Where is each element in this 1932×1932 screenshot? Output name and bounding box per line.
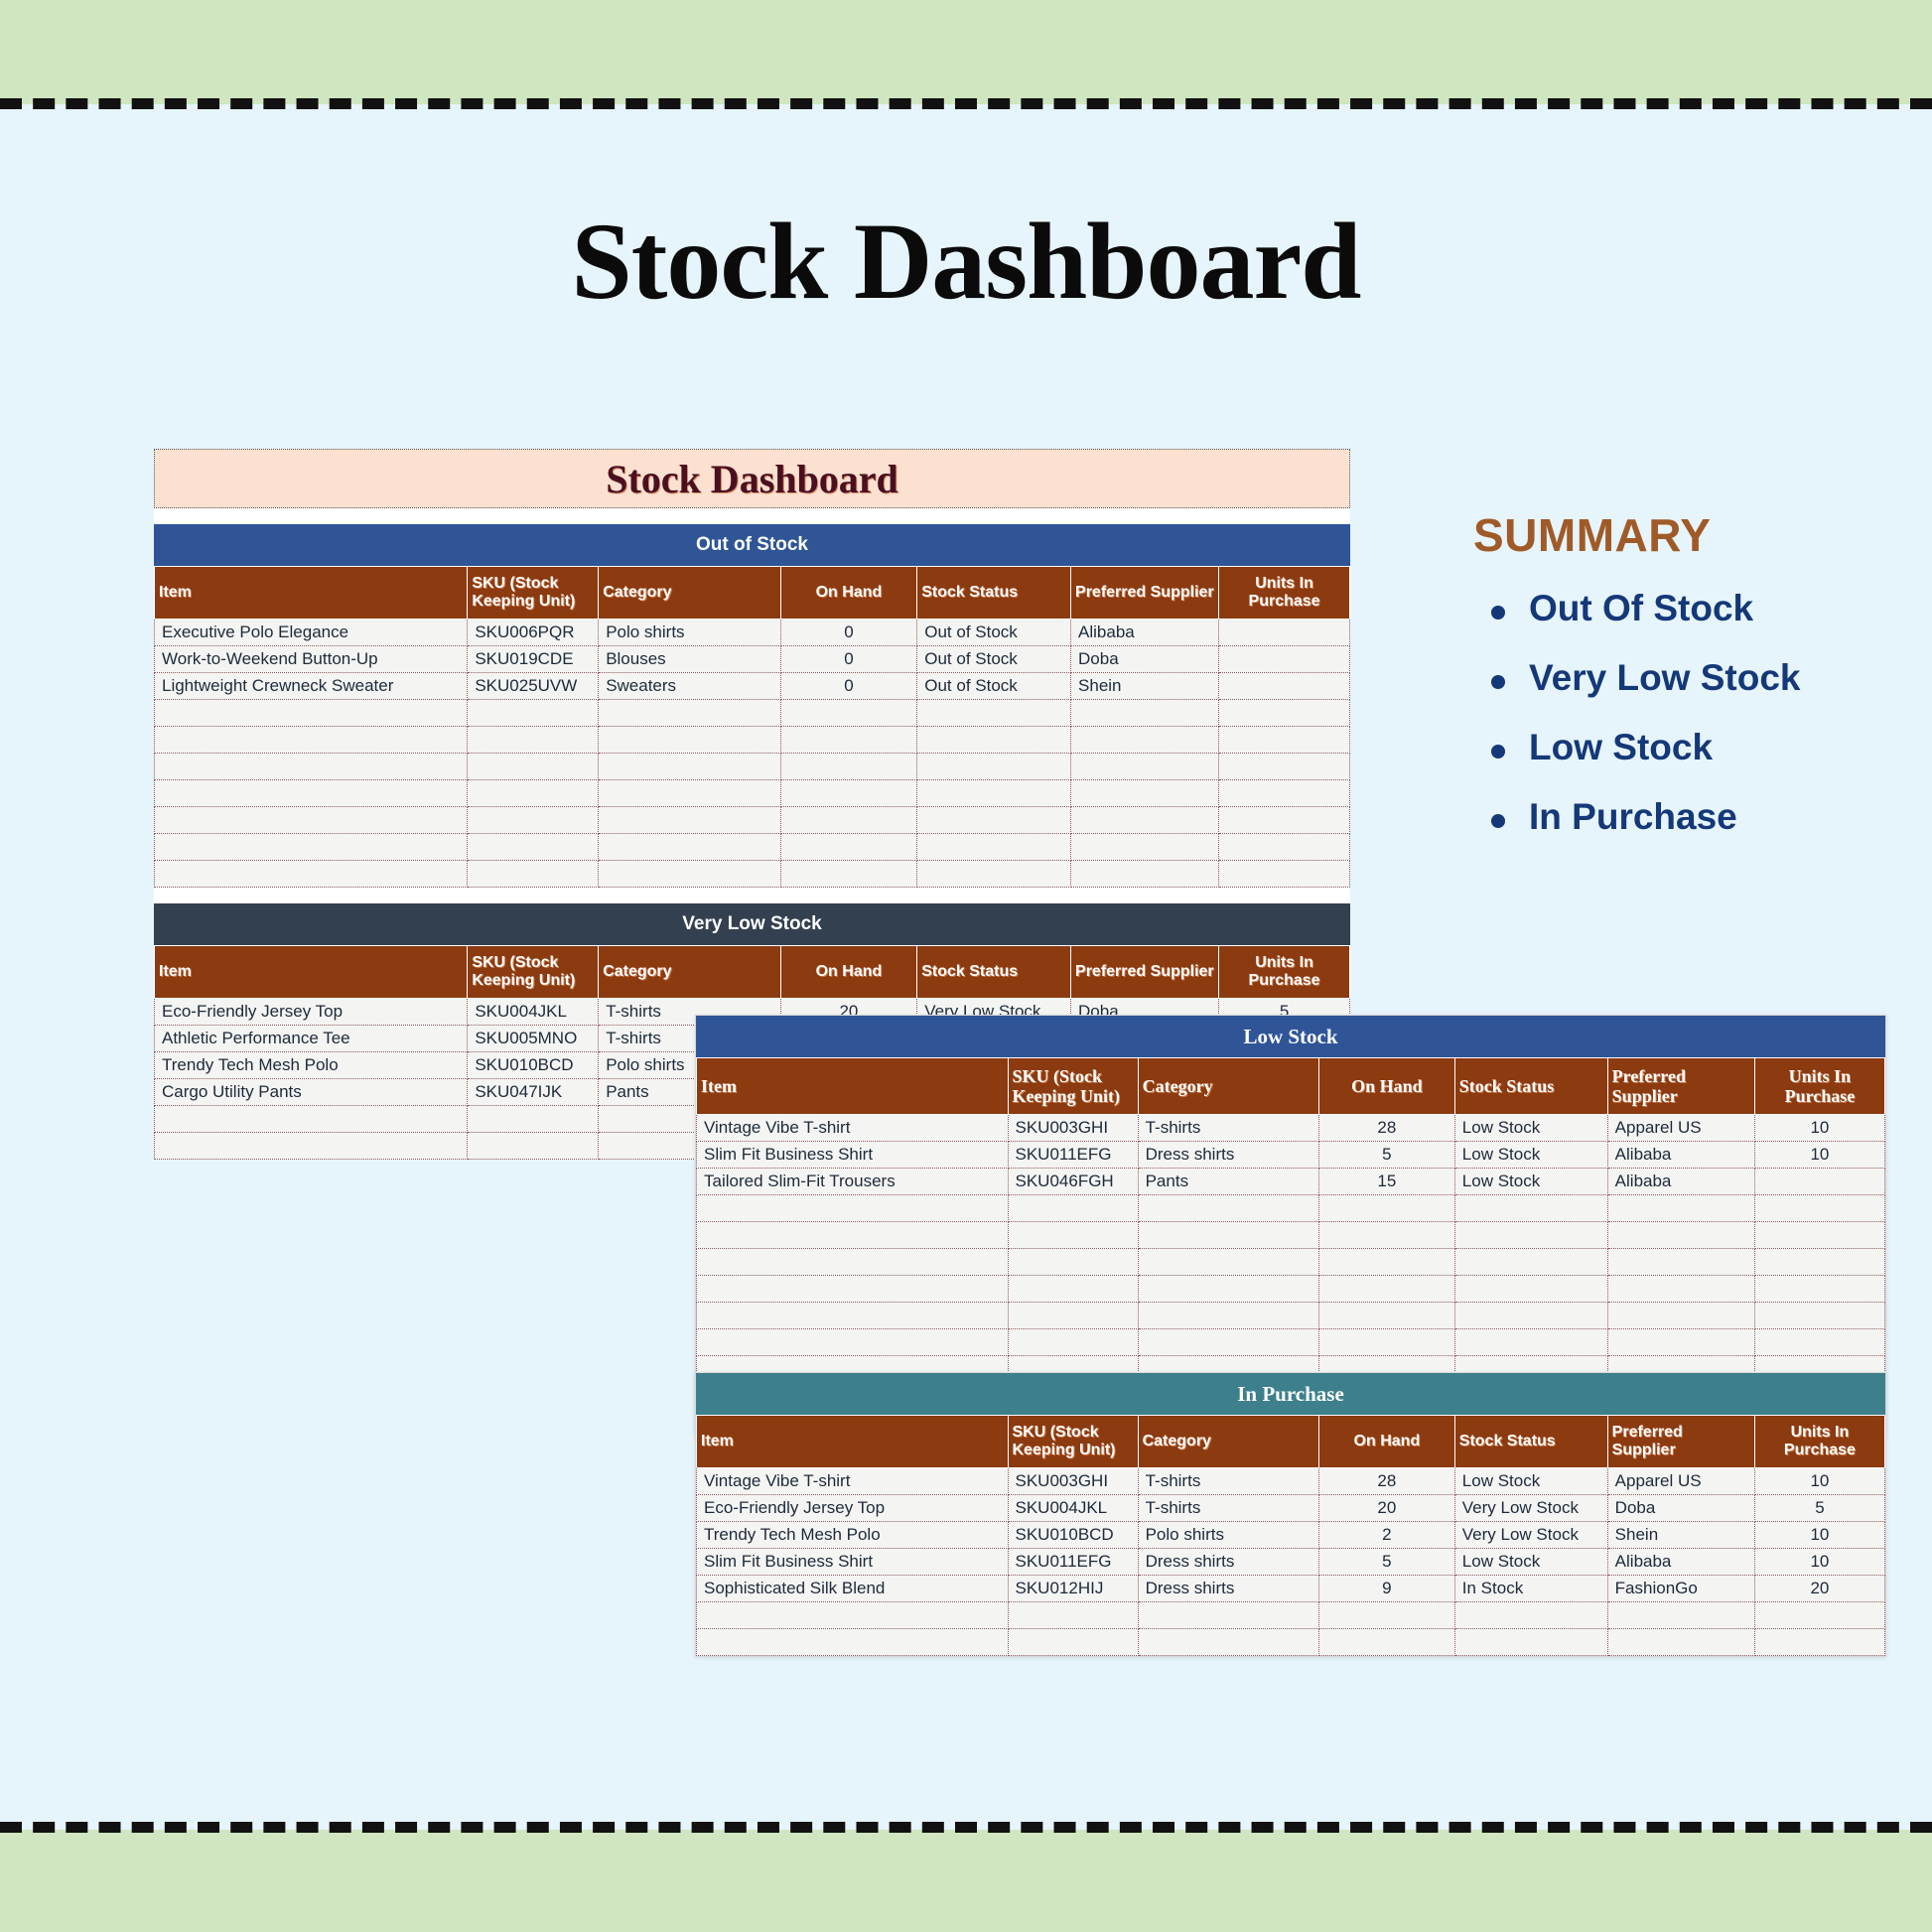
table-row[interactable] [155, 699, 1350, 726]
cell-supplier[interactable] [1071, 726, 1219, 753]
table-row[interactable] [697, 1601, 1885, 1628]
cell-supplier[interactable] [1607, 1195, 1754, 1222]
cell-status[interactable]: Out of Stock [917, 619, 1071, 645]
cell-status[interactable] [917, 806, 1071, 833]
cell-category[interactable]: Polo shirts [1138, 1521, 1318, 1548]
cell-units[interactable]: 10 [1754, 1521, 1884, 1548]
column-header-units-in-purchase: Units In Purchase [1754, 1058, 1884, 1115]
cell-item[interactable] [155, 1132, 468, 1159]
table-body: Executive Polo EleganceSKU006PQRPolo shi… [155, 619, 1350, 887]
cell-item[interactable]: Work-to-Weekend Button-Up [155, 645, 468, 672]
cell-sku[interactable]: SKU011EFG [1008, 1142, 1138, 1169]
cell-status[interactable]: Low Stock [1454, 1467, 1607, 1494]
cell-item[interactable]: Vintage Vibe T-shirt [697, 1115, 1009, 1142]
cell-category[interactable] [599, 726, 780, 753]
cell-status[interactable]: Low Stock [1454, 1169, 1607, 1195]
column-header-on-hand: On Hand [780, 945, 917, 998]
cell-sku[interactable] [468, 699, 599, 726]
cell-status[interactable] [1454, 1329, 1607, 1356]
cell-item[interactable]: Vintage Vibe T-shirt [697, 1467, 1009, 1494]
cell-item[interactable]: Eco-Friendly Jersey Top [155, 998, 468, 1025]
table-row[interactable]: Trendy Tech Mesh PoloSKU010BCDPolo shirt… [697, 1521, 1885, 1548]
cell-category[interactable]: Sweaters [599, 672, 780, 699]
cell-supplier[interactable] [1607, 1601, 1754, 1628]
cell-on_hand[interactable] [780, 726, 917, 753]
cell-status[interactable]: In Stock [1454, 1575, 1607, 1601]
cell-units[interactable] [1219, 726, 1350, 753]
cell-on_hand[interactable]: 28 [1318, 1467, 1454, 1494]
summary-item-label: Out Of Stock [1529, 588, 1753, 628]
cell-on_hand[interactable]: 0 [780, 619, 917, 645]
table-row[interactable]: Slim Fit Business ShirtSKU011EFGDress sh… [697, 1548, 1885, 1575]
summary-item-label: In Purchase [1529, 796, 1737, 837]
cell-units[interactable]: 20 [1754, 1575, 1884, 1601]
column-header-category: Category [1138, 1416, 1318, 1468]
cell-on_hand[interactable] [780, 779, 917, 806]
spacer [154, 508, 1350, 524]
table-row[interactable]: Vintage Vibe T-shirtSKU003GHIT-shirts28L… [697, 1467, 1885, 1494]
table-row[interactable]: Tailored Slim-Fit TrousersSKU046FGHPants… [697, 1169, 1885, 1195]
cell-status[interactable] [917, 860, 1071, 887]
cell-on_hand[interactable]: 5 [1318, 1548, 1454, 1575]
cell-sku[interactable] [468, 1105, 599, 1132]
cell-supplier[interactable] [1071, 779, 1219, 806]
cell-status[interactable] [917, 726, 1071, 753]
cell-sku[interactable]: SKU047IJK [468, 1078, 599, 1105]
cell-on_hand[interactable]: 28 [1318, 1115, 1454, 1142]
cell-sku[interactable]: SKU004JKL [468, 998, 599, 1025]
cell-sku[interactable] [468, 833, 599, 860]
table-row[interactable]: Sophisticated Silk BlendSKU012HIJDress s… [697, 1575, 1885, 1601]
cell-sku[interactable] [1008, 1628, 1138, 1655]
summary-item-2[interactable]: Low Stock [1473, 727, 1890, 768]
cell-category[interactable] [1138, 1276, 1318, 1303]
cell-on_hand[interactable] [780, 753, 917, 779]
sku-header-line2: Keeping Unit) [472, 593, 575, 610]
cell-category[interactable] [599, 753, 780, 779]
cell-sku[interactable]: SKU025UVW [468, 672, 599, 699]
cell-category[interactable]: T-shirts [1138, 1494, 1318, 1521]
cell-status[interactable] [917, 833, 1071, 860]
cell-supplier[interactable] [1607, 1329, 1754, 1356]
summary-panel: SUMMARY Out Of StockVery Low StockLow St… [1473, 508, 1890, 866]
cell-sku[interactable]: SKU003GHI [1008, 1115, 1138, 1142]
cell-units[interactable] [1219, 860, 1350, 887]
cell-category[interactable] [1138, 1222, 1318, 1249]
cell-item[interactable] [155, 1105, 468, 1132]
table-row[interactable] [155, 753, 1350, 779]
column-header-units-in-purchase: Units In Purchase [1754, 1416, 1884, 1468]
table-row[interactable] [155, 860, 1350, 887]
table-header-row: Item SKU (StockKeeping Unit) Category On… [155, 945, 1350, 998]
cell-on_hand[interactable]: 2 [1318, 1521, 1454, 1548]
cell-on_hand[interactable]: 15 [1318, 1169, 1454, 1195]
cell-supplier[interactable] [1071, 860, 1219, 887]
cell-units[interactable] [1219, 753, 1350, 779]
cell-category[interactable] [1138, 1329, 1318, 1356]
column-header-units-in-purchase: Units In Purchase [1219, 567, 1350, 620]
cell-units[interactable] [1219, 645, 1350, 672]
column-header-on-hand: On Hand [1318, 1058, 1454, 1115]
column-header-item: Item [155, 945, 468, 998]
cell-on_hand[interactable] [1318, 1329, 1454, 1356]
column-header-preferred-supplier: Preferred Supplier [1607, 1416, 1754, 1468]
cell-status[interactable]: Low Stock [1454, 1548, 1607, 1575]
table-banner-out-of-stock: Out of Stock [154, 524, 1350, 566]
cell-supplier[interactable] [1607, 1249, 1754, 1276]
sku-header-line2: Keeping Unit) [1013, 1442, 1116, 1458]
summary-list: Out Of StockVery Low StockLow StockIn Pu… [1473, 588, 1890, 838]
cell-sku[interactable]: SKU006PQR [468, 619, 599, 645]
table-body: Vintage Vibe T-shirtSKU003GHIT-shirts28L… [697, 1467, 1885, 1655]
spacer [154, 888, 1350, 903]
column-header-preferred-supplier: Preferred Supplier [1071, 945, 1219, 998]
summary-item-0[interactable]: Out Of Stock [1473, 588, 1890, 629]
sku-header-line2: Keeping Unit) [1013, 1086, 1121, 1106]
table-row[interactable]: Eco-Friendly Jersey TopSKU004JKLT-shirts… [697, 1494, 1885, 1521]
table-banner-low-stock: Low Stock [696, 1016, 1885, 1057]
cell-item[interactable]: Cargo Utility Pants [155, 1078, 468, 1105]
cell-on_hand[interactable]: 20 [1318, 1494, 1454, 1521]
bottom-green-band [0, 1830, 1932, 1932]
cell-category[interactable] [599, 833, 780, 860]
cell-status[interactable] [1454, 1249, 1607, 1276]
panel-in-purchase: In Purchase Item SKU (StockKeeping Unit)… [695, 1372, 1886, 1657]
cell-status[interactable]: Out of Stock [917, 672, 1071, 699]
cell-category[interactable]: Pants [1138, 1169, 1318, 1195]
cell-supplier[interactable] [1071, 753, 1219, 779]
cell-status[interactable] [917, 753, 1071, 779]
sku-header-line1: SKU (Stock [1013, 1066, 1103, 1086]
cell-on_hand[interactable]: 9 [1318, 1575, 1454, 1601]
summary-item-label: Very Low Stock [1529, 657, 1801, 698]
cell-item[interactable]: Slim Fit Business Shirt [697, 1548, 1009, 1575]
summary-title: SUMMARY [1473, 508, 1890, 562]
table-row[interactable]: Work-to-Weekend Button-UpSKU019CDEBlouse… [155, 645, 1350, 672]
cell-category[interactable] [1138, 1249, 1318, 1276]
cell-category[interactable]: Dress shirts [1138, 1142, 1318, 1169]
column-header-item: Item [155, 567, 468, 620]
column-header-category: Category [599, 567, 780, 620]
table-row[interactable] [697, 1222, 1885, 1249]
cell-item[interactable] [155, 833, 468, 860]
table-row[interactable] [697, 1276, 1885, 1303]
top-green-band [0, 0, 1932, 104]
cell-on_hand[interactable] [780, 833, 917, 860]
table-row[interactable] [697, 1249, 1885, 1276]
cell-units[interactable] [1219, 699, 1350, 726]
cell-on_hand[interactable] [780, 699, 917, 726]
table-banner-in-purchase: In Purchase [696, 1373, 1885, 1415]
cell-category[interactable]: Dress shirts [1138, 1548, 1318, 1575]
bullet-icon [1491, 814, 1505, 828]
cell-sku[interactable] [1008, 1222, 1138, 1249]
column-header-sku: SKU (StockKeeping Unit) [468, 945, 599, 998]
table-out-of-stock: Item SKU (StockKeeping Unit) Category On… [154, 566, 1350, 888]
column-header-stock-status: Stock Status [917, 567, 1071, 620]
table-row[interactable]: Vintage Vibe T-shirtSKU003GHIT-shirts28L… [697, 1115, 1885, 1142]
cell-sku[interactable] [468, 806, 599, 833]
cell-status[interactable] [1454, 1303, 1607, 1329]
cell-units[interactable] [1219, 672, 1350, 699]
cell-item[interactable] [697, 1601, 1009, 1628]
cell-on_hand[interactable] [1318, 1222, 1454, 1249]
cell-supplier[interactable]: Doba [1071, 645, 1219, 672]
table-block-out-of-stock: Out of Stock Item SKU (StockKeeping Unit… [154, 524, 1350, 888]
column-header-sku: SKU (StockKeeping Unit) [1008, 1058, 1138, 1115]
cell-item[interactable] [697, 1195, 1009, 1222]
column-header-on-hand: On Hand [780, 567, 917, 620]
cell-units[interactable] [1219, 619, 1350, 645]
cell-supplier[interactable]: Shein [1071, 672, 1219, 699]
cell-category[interactable] [599, 699, 780, 726]
table-row[interactable] [697, 1303, 1885, 1329]
cell-item[interactable] [155, 753, 468, 779]
cell-on_hand[interactable] [780, 860, 917, 887]
cell-units[interactable] [1754, 1169, 1884, 1195]
cell-item[interactable] [697, 1276, 1009, 1303]
table-banner-very-low-stock: Very Low Stock [154, 903, 1350, 945]
cell-category[interactable]: T-shirts [1138, 1115, 1318, 1142]
cell-on_hand[interactable]: 5 [1318, 1142, 1454, 1169]
cell-item[interactable] [697, 1628, 1009, 1655]
cell-on_hand[interactable] [1318, 1601, 1454, 1628]
table-row[interactable]: Executive Polo EleganceSKU006PQRPolo shi… [155, 619, 1350, 645]
sheet-title-banner: Stock Dashboard [154, 449, 1350, 508]
cell-sku[interactable] [1008, 1601, 1138, 1628]
cell-item[interactable]: Lightweight Crewneck Sweater [155, 672, 468, 699]
cell-status[interactable]: Low Stock [1454, 1115, 1607, 1142]
cell-on_hand[interactable]: 0 [780, 645, 917, 672]
column-header-units-in-purchase: Units In Purchase [1219, 945, 1350, 998]
cell-supplier[interactable] [1607, 1222, 1754, 1249]
cell-sku[interactable] [468, 726, 599, 753]
cell-sku[interactable] [1008, 1249, 1138, 1276]
cell-sku[interactable] [1008, 1329, 1138, 1356]
cell-sku[interactable]: SKU010BCD [1008, 1521, 1138, 1548]
cell-units[interactable] [1754, 1195, 1884, 1222]
bullet-icon [1491, 675, 1505, 689]
column-header-stock-status: Stock Status [917, 945, 1071, 998]
cell-sku[interactable]: SKU019CDE [468, 645, 599, 672]
summary-item-label: Low Stock [1529, 727, 1713, 767]
cell-category[interactable] [1138, 1628, 1318, 1655]
cell-category[interactable] [599, 779, 780, 806]
cell-units[interactable] [1754, 1628, 1884, 1655]
cell-status[interactable] [1454, 1628, 1607, 1655]
sku-header-line1: SKU (Stock [472, 954, 558, 971]
cell-on_hand[interactable]: 0 [780, 672, 917, 699]
cell-category[interactable] [599, 860, 780, 887]
cell-units[interactable] [1754, 1601, 1884, 1628]
cell-status[interactable]: Very Low Stock [1454, 1494, 1607, 1521]
column-header-category: Category [599, 945, 780, 998]
cell-supplier[interactable] [1607, 1303, 1754, 1329]
cell-sku[interactable] [1008, 1303, 1138, 1329]
cell-supplier[interactable]: FashionGo [1607, 1575, 1754, 1601]
cell-sku[interactable]: SKU012HIJ [1008, 1575, 1138, 1601]
column-header-on-hand: On Hand [1318, 1416, 1454, 1468]
cell-sku[interactable]: SKU011EFG [1008, 1548, 1138, 1575]
cell-category[interactable] [1138, 1195, 1318, 1222]
cell-item[interactable] [155, 860, 468, 887]
bottom-dashed-divider [0, 1822, 1932, 1833]
sku-header-line1: SKU (Stock [472, 575, 558, 592]
cell-on_hand[interactable] [1318, 1249, 1454, 1276]
cell-category[interactable]: Dress shirts [1138, 1575, 1318, 1601]
cell-supplier[interactable]: Shein [1607, 1521, 1754, 1548]
cell-status[interactable] [1454, 1601, 1607, 1628]
column-header-preferred-supplier: Preferred Supplier [1607, 1058, 1754, 1115]
cell-supplier[interactable]: Doba [1607, 1494, 1754, 1521]
cell-sku[interactable] [1008, 1276, 1138, 1303]
table-row[interactable]: Slim Fit Business ShirtSKU011EFGDress sh… [697, 1142, 1885, 1169]
cell-sku[interactable] [468, 860, 599, 887]
cell-category[interactable]: Polo shirts [599, 619, 780, 645]
cell-supplier[interactable]: Apparel US [1607, 1115, 1754, 1142]
sku-header-line1: SKU (Stock [1013, 1424, 1099, 1441]
cell-status[interactable]: Very Low Stock [1454, 1521, 1607, 1548]
table-row[interactable] [697, 1195, 1885, 1222]
bullet-icon [1491, 745, 1505, 759]
cell-item[interactable] [155, 779, 468, 806]
table-row[interactable] [155, 779, 1350, 806]
table-header-row: Item SKU (StockKeeping Unit) Category On… [697, 1416, 1885, 1468]
page-title: Stock Dashboard [0, 207, 1932, 316]
cell-item[interactable] [155, 806, 468, 833]
cell-item[interactable] [697, 1222, 1009, 1249]
cell-sku[interactable]: SKU004JKL [1008, 1494, 1138, 1521]
column-header-stock-status: Stock Status [1454, 1416, 1607, 1468]
cell-units[interactable]: 10 [1754, 1467, 1884, 1494]
cell-status[interactable] [1454, 1195, 1607, 1222]
cell-supplier[interactable] [1607, 1628, 1754, 1655]
cell-item[interactable] [155, 726, 468, 753]
column-header-sku: SKU (StockKeeping Unit) [1008, 1416, 1138, 1468]
cell-item[interactable]: Slim Fit Business Shirt [697, 1142, 1009, 1169]
cell-sku[interactable] [468, 1132, 599, 1159]
cell-category[interactable] [599, 806, 780, 833]
cell-category[interactable]: T-shirts [1138, 1467, 1318, 1494]
cell-status[interactable] [1454, 1276, 1607, 1303]
table-row[interactable] [155, 726, 1350, 753]
cell-status[interactable]: Out of Stock [917, 645, 1071, 672]
cell-units[interactable]: 10 [1754, 1548, 1884, 1575]
cell-supplier[interactable]: Alibaba [1607, 1142, 1754, 1169]
cell-units[interactable]: 5 [1754, 1494, 1884, 1521]
column-header-preferred-supplier: Preferred Supplier [1071, 567, 1219, 620]
cell-on_hand[interactable] [1318, 1276, 1454, 1303]
cell-item[interactable]: Eco-Friendly Jersey Top [697, 1494, 1009, 1521]
cell-sku[interactable]: SKU003GHI [1008, 1467, 1138, 1494]
cell-units[interactable] [1754, 1249, 1884, 1276]
cell-item[interactable]: Executive Polo Elegance [155, 619, 468, 645]
cell-item[interactable] [697, 1329, 1009, 1356]
table-header-row: Item SKU (StockKeeping Unit) Category On… [155, 567, 1350, 620]
cell-item[interactable] [697, 1303, 1009, 1329]
cell-item[interactable] [155, 699, 468, 726]
cell-supplier[interactable] [1071, 699, 1219, 726]
cell-supplier[interactable]: Alibaba [1071, 619, 1219, 645]
table-row[interactable] [155, 833, 1350, 860]
cell-supplier[interactable] [1607, 1276, 1754, 1303]
cell-units[interactable]: 10 [1754, 1115, 1884, 1142]
cell-sku[interactable] [468, 753, 599, 779]
cell-on_hand[interactable] [1318, 1628, 1454, 1655]
cell-status[interactable] [1454, 1222, 1607, 1249]
summary-item-3[interactable]: In Purchase [1473, 796, 1890, 838]
cell-status[interactable] [917, 779, 1071, 806]
column-header-category: Category [1138, 1058, 1318, 1115]
cell-units[interactable] [1219, 779, 1350, 806]
cell-item[interactable]: Trendy Tech Mesh Polo [697, 1521, 1009, 1548]
column-header-sku: SKU (StockKeeping Unit) [468, 567, 599, 620]
column-header-item: Item [697, 1416, 1009, 1468]
cell-units[interactable] [1754, 1276, 1884, 1303]
cell-sku[interactable] [1008, 1195, 1138, 1222]
cell-category[interactable] [1138, 1601, 1318, 1628]
summary-item-1[interactable]: Very Low Stock [1473, 657, 1890, 699]
cell-status[interactable] [917, 699, 1071, 726]
cell-units[interactable] [1754, 1303, 1884, 1329]
table-row[interactable] [697, 1329, 1885, 1356]
cell-supplier[interactable] [1071, 833, 1219, 860]
cell-units[interactable] [1754, 1329, 1884, 1356]
cell-item[interactable]: Sophisticated Silk Blend [697, 1575, 1009, 1601]
cell-category[interactable]: Blouses [599, 645, 780, 672]
column-header-stock-status: Stock Status [1454, 1058, 1607, 1115]
cell-units[interactable]: 10 [1754, 1142, 1884, 1169]
cell-on_hand[interactable] [1318, 1303, 1454, 1329]
cell-supplier[interactable]: Alibaba [1607, 1169, 1754, 1195]
cell-on_hand[interactable] [1318, 1195, 1454, 1222]
cell-item[interactable]: Tailored Slim-Fit Trousers [697, 1169, 1009, 1195]
cell-item[interactable]: Trendy Tech Mesh Polo [155, 1051, 468, 1078]
cell-item[interactable]: Athletic Performance Tee [155, 1025, 468, 1051]
table-row[interactable]: Lightweight Crewneck SweaterSKU025UVWSwe… [155, 672, 1350, 699]
table-header-row: Item SKU (StockKeeping Unit) Category On… [697, 1058, 1885, 1115]
cell-units[interactable] [1219, 806, 1350, 833]
cell-sku[interactable]: SKU010BCD [468, 1051, 599, 1078]
cell-on_hand[interactable] [780, 806, 917, 833]
cell-units[interactable] [1219, 833, 1350, 860]
table-row[interactable] [697, 1628, 1885, 1655]
cell-item[interactable] [697, 1249, 1009, 1276]
table-row[interactable] [155, 806, 1350, 833]
cell-units[interactable] [1754, 1222, 1884, 1249]
sku-header-line2: Keeping Unit) [472, 972, 575, 989]
column-header-item: Item [697, 1058, 1009, 1115]
cell-sku[interactable]: SKU046FGH [1008, 1169, 1138, 1195]
top-dashed-divider [0, 98, 1932, 109]
cell-sku[interactable]: SKU005MNO [468, 1025, 599, 1051]
cell-sku[interactable] [468, 779, 599, 806]
cell-category[interactable] [1138, 1303, 1318, 1329]
cell-supplier[interactable]: Alibaba [1607, 1548, 1754, 1575]
table-in-purchase: Item SKU (StockKeeping Unit) Category On… [696, 1415, 1885, 1656]
cell-status[interactable]: Low Stock [1454, 1142, 1607, 1169]
cell-supplier[interactable] [1071, 806, 1219, 833]
cell-supplier[interactable]: Apparel US [1607, 1467, 1754, 1494]
bullet-icon [1491, 606, 1505, 620]
